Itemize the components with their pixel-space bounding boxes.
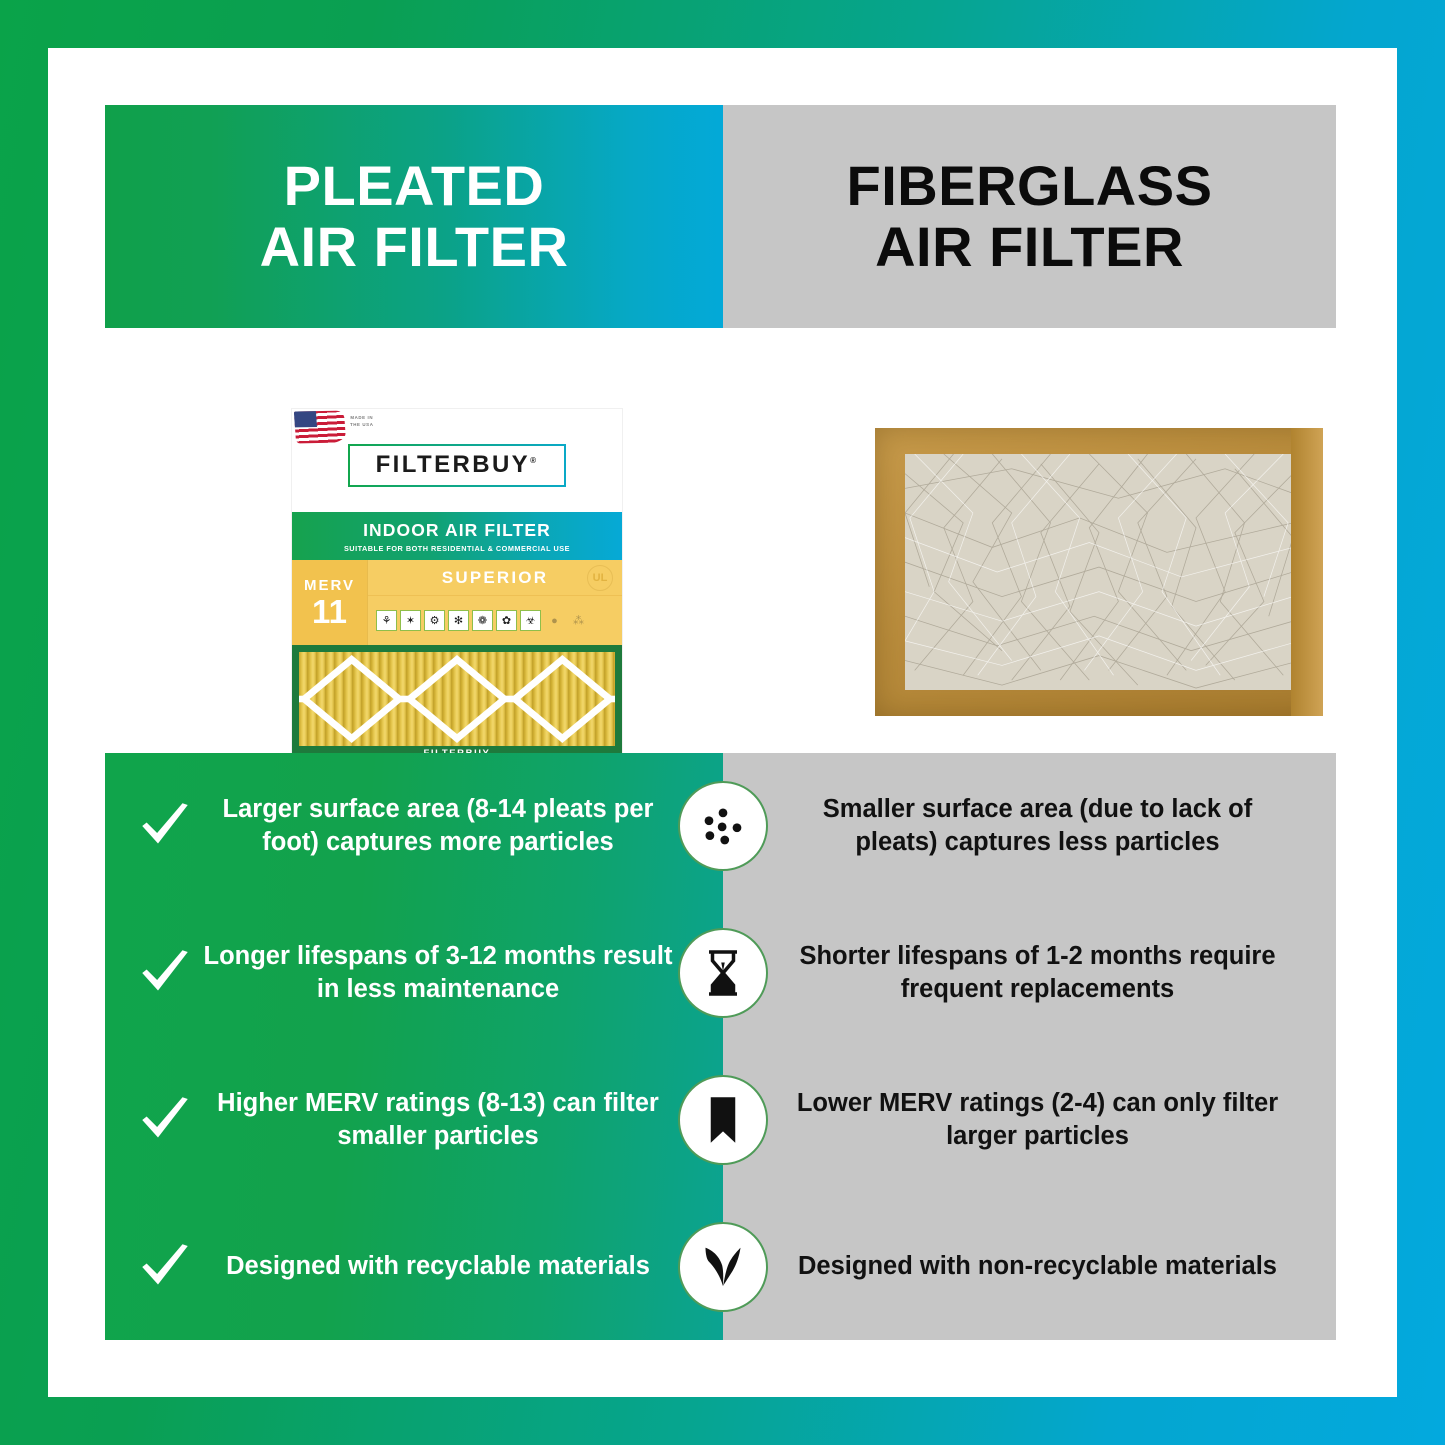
table-row: Designed with recyclable materials Desig… [105, 1193, 1336, 1340]
filtration-icon-row: ⚘ ✶ ⚙ ✻ ❁ ✿ ☣ ● ⁂ [368, 596, 622, 645]
particles-icon [678, 781, 768, 871]
comparison-panel: Larger surface area (8-14 pleats per foo… [105, 753, 1336, 1340]
fiberglass-mesh [905, 454, 1293, 690]
leaf-icon [678, 1222, 768, 1312]
row-fiberglass-text: Shorter lifespans of 1-2 months require … [785, 940, 1290, 1006]
grade-row: SUPERIOR UL [368, 560, 622, 596]
usa-flag-icon [294, 411, 346, 444]
ul-seal-icon: UL [587, 565, 613, 591]
row-pleated-cell: Longer lifespans of 3-12 months result i… [105, 900, 723, 1047]
bacteria-icon: ● [544, 610, 565, 631]
table-row: Longer lifespans of 3-12 months result i… [105, 900, 1336, 1047]
outer-gradient-frame: PLEATED AIR FILTER FIBERGLASS AIR FILTER… [0, 0, 1445, 1445]
pleated-media-photo: FILTERBUY [292, 645, 622, 761]
dust-icon: ⚘ [376, 610, 397, 631]
made-in-usa-label: MADE IN THE USA [350, 415, 373, 428]
row-pleated-text: Longer lifespans of 3-12 months result i… [199, 940, 677, 1006]
row-fiberglass-text: Lower MERV ratings (2-4) can only filter… [785, 1087, 1290, 1153]
pleated-filter-box-image: MADE IN THE USA FILTERBUY® INDOOR AIR FI… [292, 409, 622, 761]
row-pleated-text: Designed with recyclable materials [199, 1250, 677, 1283]
fiberglass-filter-image [875, 428, 1323, 716]
mold-icon: ❁ [472, 610, 493, 631]
box-product-band: INDOOR AIR FILTER SUITABLE FOR BOTH RESI… [292, 512, 622, 560]
insect-icon: ✶ [400, 610, 421, 631]
pollen-icon: ✻ [448, 610, 469, 631]
header-pleated-title: PLEATED AIR FILTER [260, 156, 569, 277]
checkmark-icon [131, 1239, 199, 1295]
header-fiberglass-title: FIBERGLASS AIR FILTER [847, 156, 1213, 277]
row-fiberglass-text: Smaller surface area (due to lack of ple… [785, 793, 1290, 859]
row-fiberglass-text: Designed with non-recyclable materials [798, 1250, 1277, 1283]
brand-name: FILTERBUY® [376, 451, 539, 479]
row-fiberglass-cell: Designed with non-recyclable materials [723, 1193, 1336, 1340]
merv-value: 11 [312, 596, 347, 627]
pet-dander-icon: ✿ [496, 610, 517, 631]
bookmark-icon [678, 1075, 768, 1165]
fiberglass-frame-right-edge [1291, 428, 1323, 716]
header-band: PLEATED AIR FILTER FIBERGLASS AIR FILTER [105, 105, 1336, 328]
checkmark-icon [131, 798, 199, 854]
band-subtitle: SUITABLE FOR BOTH RESIDENTIAL & COMMERCI… [344, 544, 570, 553]
comparison-rows: Larger surface area (8-14 pleats per foo… [105, 753, 1336, 1340]
product-image-zone: MADE IN THE USA FILTERBUY® INDOOR AIR FI… [105, 328, 1336, 753]
merv-right-panel: SUPERIOR UL ⚘ ✶ ⚙ ✻ ❁ ✿ ☣ ● ⁂ [368, 560, 622, 645]
brand-logo-plate: FILTERBUY® [348, 444, 566, 487]
pleat-texture [299, 652, 615, 746]
table-row: Higher MERV ratings (8-13) can filter sm… [105, 1047, 1336, 1194]
row-fiberglass-cell: Shorter lifespans of 1-2 months require … [723, 900, 1336, 1047]
virus-icon: ⚙ [424, 610, 445, 631]
checkmark-icon [131, 945, 199, 1001]
row-fiberglass-cell: Lower MERV ratings (2-4) can only filter… [723, 1047, 1336, 1194]
smoke-icon: ☣ [520, 610, 541, 631]
row-pleated-text: Larger surface area (8-14 pleats per foo… [199, 793, 677, 859]
row-pleated-cell: Higher MERV ratings (8-13) can filter sm… [105, 1047, 723, 1194]
row-fiberglass-cell: Smaller surface area (due to lack of ple… [723, 753, 1336, 900]
merv-badge: MERV 11 [292, 560, 368, 645]
merv-label: MERV [304, 577, 355, 594]
diamond-support-grid [299, 652, 615, 746]
row-pleated-cell: Larger surface area (8-14 pleats per foo… [105, 753, 723, 900]
header-pleated: PLEATED AIR FILTER [105, 105, 723, 328]
band-title: INDOOR AIR FILTER [363, 520, 551, 541]
hourglass-icon [678, 928, 768, 1018]
header-fiberglass: FIBERGLASS AIR FILTER [723, 105, 1336, 328]
table-row: Larger surface area (8-14 pleats per foo… [105, 753, 1336, 900]
row-pleated-text: Higher MERV ratings (8-13) can filter sm… [199, 1087, 677, 1153]
odor-icon: ⁂ [568, 610, 589, 631]
checkmark-icon [131, 1092, 199, 1148]
white-canvas: PLEATED AIR FILTER FIBERGLASS AIR FILTER… [48, 48, 1397, 1397]
grade-label: SUPERIOR [442, 568, 548, 588]
box-top-section: MADE IN THE USA FILTERBUY® [292, 409, 622, 512]
row-pleated-cell: Designed with recyclable materials [105, 1193, 723, 1340]
box-merv-section: MERV 11 SUPERIOR UL ⚘ ✶ ⚙ ✻ ❁ [292, 560, 622, 645]
